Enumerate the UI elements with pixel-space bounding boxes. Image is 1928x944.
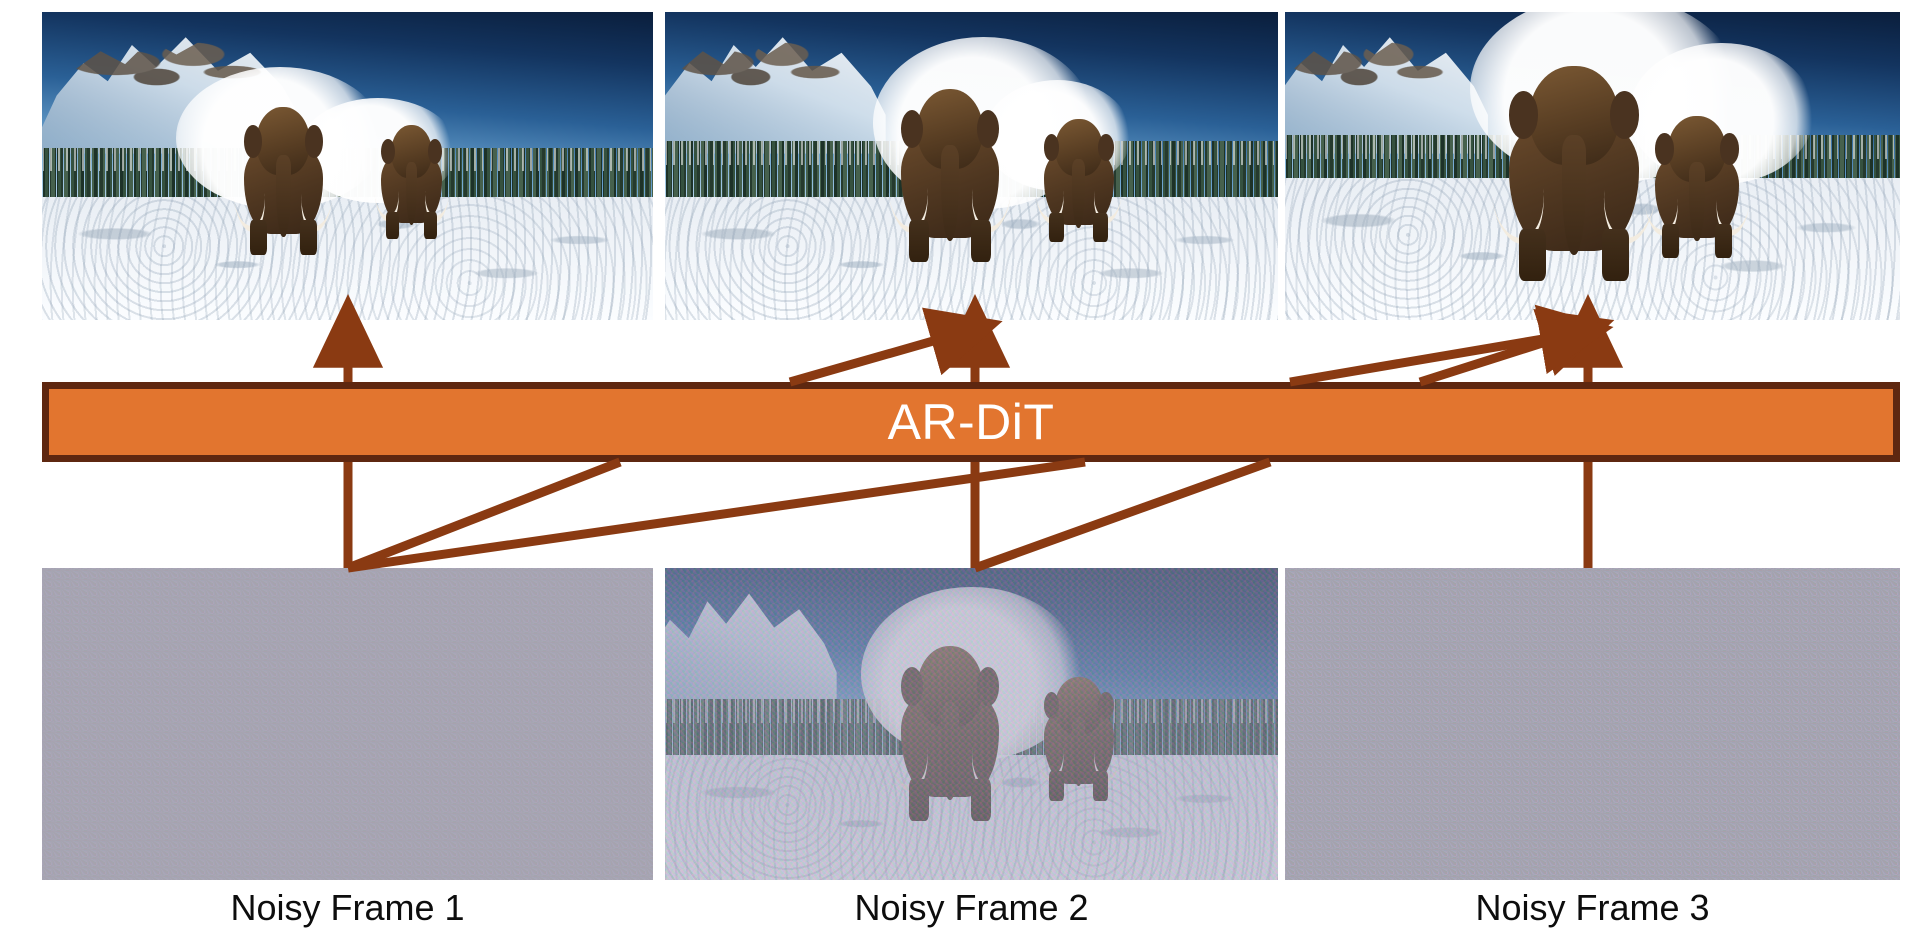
mammoth-tusk <box>1641 163 1681 231</box>
line-noisy1-branch-b <box>348 462 1085 568</box>
mammoth-small <box>1642 114 1753 256</box>
mammoth-leg <box>300 220 317 255</box>
mammoth-ear <box>1610 91 1639 138</box>
mammoth-ear <box>901 110 923 148</box>
arrow-frame1-to-frame3 <box>1290 333 1578 382</box>
mammoth-trunk <box>1689 162 1704 241</box>
line-noisy1-branch-a <box>348 462 620 568</box>
mammoth-tusk <box>1092 160 1125 219</box>
snow-field <box>42 197 653 320</box>
ar-dit-label: AR-DiT <box>49 397 1893 447</box>
mammoth-ear <box>1098 134 1114 161</box>
connector-group-inputs <box>348 462 1588 568</box>
mammoth-tusk <box>423 163 452 218</box>
mammoth-leg <box>971 220 992 261</box>
noisy-frame-1 <box>42 568 653 880</box>
mammoth-leg <box>1715 224 1733 258</box>
mammoth-leg <box>1602 229 1630 281</box>
noise-veil <box>42 568 653 880</box>
mammoth-tusk <box>1032 160 1065 219</box>
mammoth-leg <box>386 212 399 239</box>
line-noisy2-branch-a <box>975 462 1270 568</box>
mammoth-leg <box>1662 224 1680 258</box>
output-frame-3 <box>1285 12 1900 320</box>
mammoth-leg <box>424 212 437 239</box>
noise-overlay <box>665 568 1278 880</box>
output-frame-1 <box>42 12 653 320</box>
ar-dit-model-block[interactable]: AR-DiT <box>42 382 1900 462</box>
mammoth-ear <box>1509 91 1538 138</box>
mammoth-tusk <box>1714 163 1754 231</box>
mammoth-leg <box>909 220 930 261</box>
mammoth-leg <box>1519 229 1547 281</box>
mammoth-leg <box>1093 213 1108 243</box>
mammoth-ear <box>1720 133 1739 164</box>
mammoth-large <box>1488 61 1660 277</box>
mammoth-ear <box>244 125 262 158</box>
mammoth-ear <box>381 139 395 164</box>
mammoth-trunk <box>276 155 291 238</box>
mammoth-ear <box>428 139 442 164</box>
arrow-group-outputs <box>348 330 1588 382</box>
output-frame-2 <box>665 12 1278 320</box>
caption-noisy-frame-2: Noisy Frame 2 <box>665 890 1278 926</box>
mammoth-small <box>372 123 451 237</box>
noisy-frame-3 <box>1285 568 1900 880</box>
mammoth-tusk <box>1486 136 1548 240</box>
mammoth-tusk <box>299 156 337 227</box>
mammoth-tusk <box>371 163 400 218</box>
caption-noisy-frame-3: Noisy Frame 3 <box>1285 890 1900 926</box>
mammoth-ear <box>1655 133 1674 164</box>
arrow-frame2-to-frame3 <box>1420 331 1580 382</box>
mammoth-large <box>886 86 1015 258</box>
mammoth-small <box>1033 117 1125 240</box>
arrow-frame1-to-frame2 <box>790 331 968 382</box>
mammoth-leg <box>1049 213 1064 243</box>
mammoth-ear <box>977 110 999 148</box>
mammoth-ear <box>305 125 323 158</box>
caption-noisy-frame-1: Noisy Frame 1 <box>42 890 653 926</box>
mammoth-leg <box>250 220 267 255</box>
noisy-frame-2 <box>665 568 1278 880</box>
noise-veil <box>1285 568 1900 880</box>
mammoth-tusk <box>969 146 1016 229</box>
mammoth-large <box>231 104 335 252</box>
diagram-canvas: AR-DiT <box>0 0 1928 944</box>
